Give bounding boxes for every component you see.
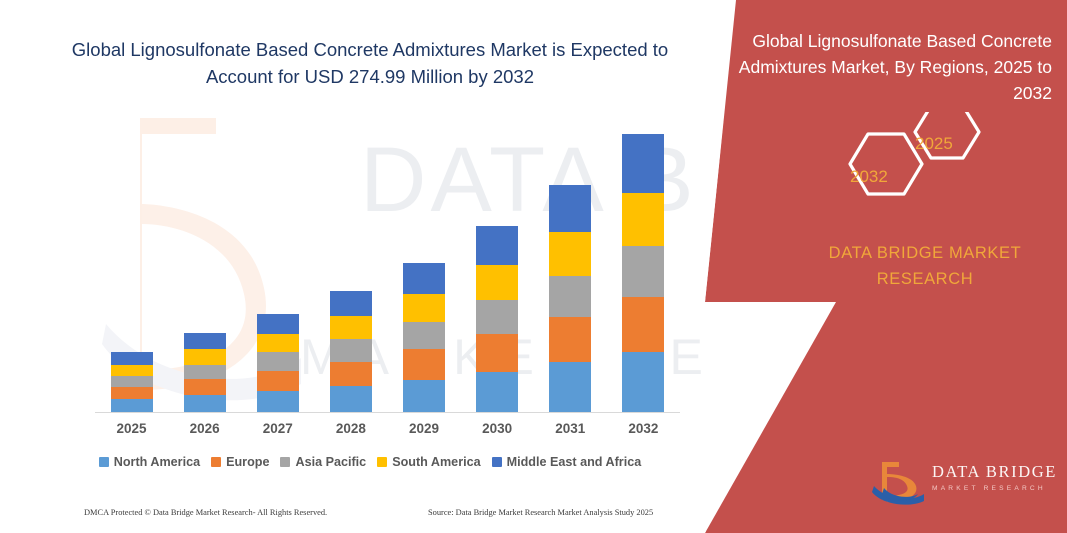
bar-segment xyxy=(111,387,153,399)
bar-segment xyxy=(257,334,299,352)
legend-item[interactable]: Asia Pacific xyxy=(280,455,366,469)
bar-segment xyxy=(403,263,445,294)
brand-logo-title: DATA BRIDGE xyxy=(932,462,1057,482)
legend-swatch xyxy=(280,457,290,467)
bar-group xyxy=(549,185,591,413)
footer: DMCA Protected © Data Bridge Market Rese… xyxy=(0,508,700,528)
brand-name: DATA BRIDGE MARKET RESEARCH xyxy=(800,240,1050,292)
panel-title: Global Lignosulfonate Based Concrete Adm… xyxy=(732,28,1052,106)
hexagon-year-start: 2032 xyxy=(850,167,888,187)
legend-item[interactable]: North America xyxy=(99,455,200,469)
bar-group xyxy=(622,134,664,413)
bar-segment xyxy=(622,297,664,353)
bar-segment xyxy=(476,226,518,264)
brand-panel-content: Global Lignosulfonate Based Concrete Adm… xyxy=(732,28,1052,106)
hexagon-2032-icon xyxy=(820,112,1030,217)
bar-segment xyxy=(111,399,153,413)
bar-segment xyxy=(622,193,664,247)
legend-swatch xyxy=(377,457,387,467)
hexagon-year-end: 2025 xyxy=(915,134,953,154)
x-axis-labels: 20252026202720282029203020312032 xyxy=(95,421,680,445)
bar-segment xyxy=(257,391,299,413)
footer-source-text: Source: Data Bridge Market Research Mark… xyxy=(428,508,653,517)
brand-logo: DATA BRIDGE MARKET RESEARCH xyxy=(872,456,1062,508)
bar-segment xyxy=(184,379,226,395)
bar-segment xyxy=(549,232,591,275)
x-axis-label: 2030 xyxy=(462,421,532,436)
hexagon-badges: 2032 2025 xyxy=(820,112,1030,217)
bar-segment xyxy=(549,185,591,232)
bar-segment xyxy=(549,276,591,317)
bar-group xyxy=(476,226,518,413)
bar-segment xyxy=(476,372,518,413)
footer-dmca-text: DMCA Protected © Data Bridge Market Rese… xyxy=(84,508,327,517)
chart-legend: North AmericaEuropeAsia PacificSouth Ame… xyxy=(60,455,680,469)
brand-logo-subtitle: MARKET RESEARCH xyxy=(932,485,1057,492)
bar-segment xyxy=(257,352,299,370)
infographic-canvas: DATA BRIDGE MARKET RESEARCH Global Ligno… xyxy=(0,0,1067,533)
bar-segment xyxy=(330,386,372,413)
legend-item[interactable]: Europe xyxy=(211,455,269,469)
chart-plot-area xyxy=(95,120,680,413)
bar-segment xyxy=(111,352,153,364)
bar-segment xyxy=(184,395,226,413)
bar-segment xyxy=(330,291,372,316)
bar-segment xyxy=(622,134,664,193)
x-axis-label: 2032 xyxy=(608,421,678,436)
legend-label: South America xyxy=(392,455,480,469)
x-axis-label: 2025 xyxy=(97,421,167,436)
legend-swatch xyxy=(99,457,109,467)
brand-logo-text: DATA BRIDGE MARKET RESEARCH xyxy=(932,462,1057,492)
bar-group xyxy=(184,333,226,413)
bar-segment xyxy=(330,339,372,361)
legend-label: Asia Pacific xyxy=(295,455,366,469)
bar-segment xyxy=(476,300,518,334)
data-bridge-logo-icon xyxy=(872,458,928,506)
bar-segment xyxy=(257,371,299,391)
bar-segment xyxy=(184,349,226,364)
bar-group xyxy=(111,352,153,413)
bar-segment xyxy=(622,352,664,413)
legend-swatch xyxy=(211,457,221,467)
legend-item[interactable]: Middle East and Africa xyxy=(492,455,642,469)
bar-segment xyxy=(476,265,518,300)
legend-item[interactable]: South America xyxy=(377,455,480,469)
bar-segment xyxy=(549,362,591,413)
bar-segment xyxy=(111,376,153,387)
x-axis-label: 2031 xyxy=(535,421,605,436)
legend-label: Middle East and Africa xyxy=(507,455,642,469)
bar-segment xyxy=(330,316,372,339)
bar-segment xyxy=(403,294,445,322)
legend-label: Europe xyxy=(226,455,269,469)
x-axis-label: 2026 xyxy=(170,421,240,436)
x-axis-label: 2029 xyxy=(389,421,459,436)
bar-segment xyxy=(184,333,226,349)
bar-segment xyxy=(403,322,445,349)
bar-segment xyxy=(403,349,445,379)
bar-group xyxy=(330,291,372,413)
bar-segment xyxy=(184,365,226,379)
bar-segment xyxy=(622,246,664,297)
bar-segment xyxy=(330,362,372,386)
x-axis-label: 2027 xyxy=(243,421,313,436)
x-axis-label: 2028 xyxy=(316,421,386,436)
bar-segment xyxy=(257,314,299,334)
bar-group xyxy=(257,314,299,413)
bar-group xyxy=(403,263,445,413)
legend-swatch xyxy=(492,457,502,467)
bar-segment xyxy=(549,317,591,362)
legend-label: North America xyxy=(114,455,200,469)
bar-segment xyxy=(403,380,445,413)
bar-segment xyxy=(111,365,153,376)
bar-segment xyxy=(476,334,518,371)
x-axis-line xyxy=(95,412,680,413)
chart-title: Global Lignosulfonate Based Concrete Adm… xyxy=(60,36,680,90)
